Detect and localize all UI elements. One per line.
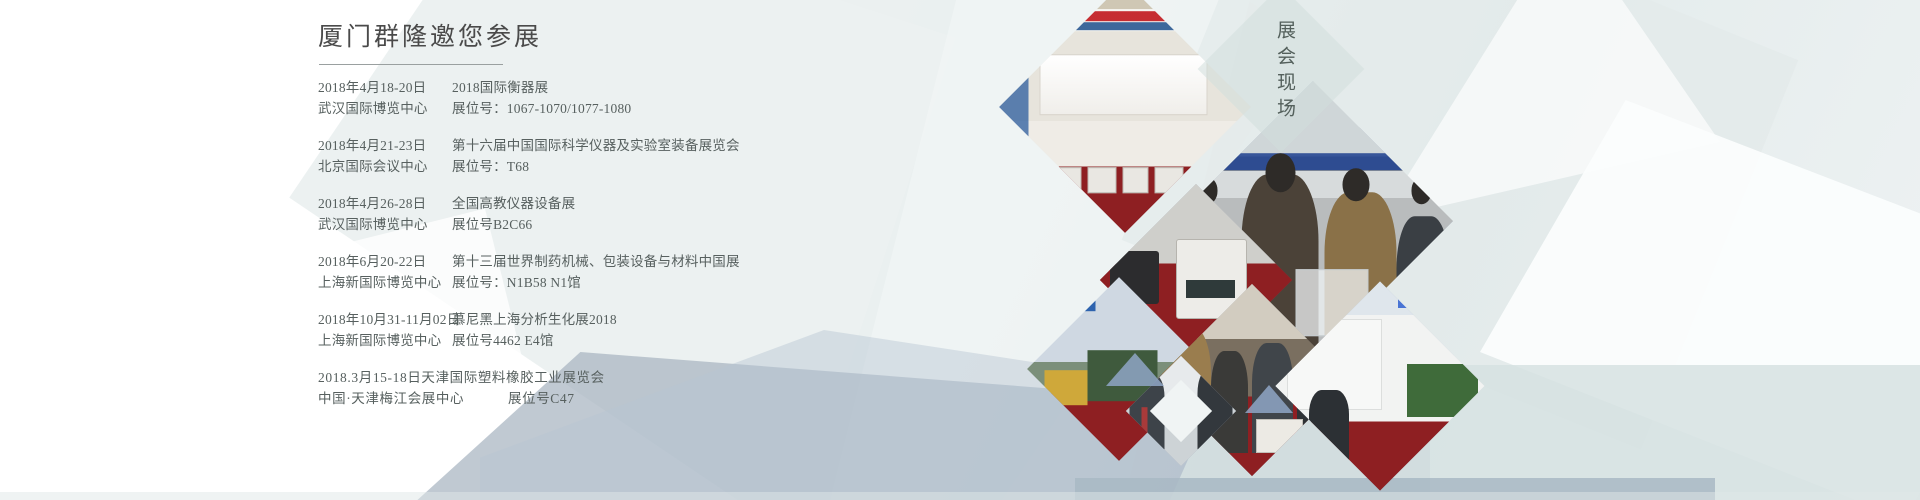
triangle-accent-icon: [1245, 385, 1293, 413]
bottom-edge-strip: [0, 492, 1920, 500]
side-label-text: 展会现场: [1272, 20, 1298, 124]
event-row-bottom: 武汉国际博览中心 展位号B2C66: [318, 214, 958, 235]
machinery-exhibit: [1045, 369, 1088, 404]
event-booth: 展位号：T68: [452, 156, 529, 177]
event-booth: 展位号：1067-1070/1077-1080: [452, 98, 631, 119]
event-row-top: 2018年4月21-23日 第十六届中国国际科学仪器及实验室装备展览会: [318, 135, 958, 156]
exhibition-banner: 厦门群隆邀您参展 2018年4月18-20日 2018国际衡器展 武汉国际博览中…: [0, 0, 1920, 500]
event-row-top: 2018年6月20-22日 第十三届世界制药机械、包装设备与材料中国展: [318, 251, 958, 272]
event-name: 第十六届中国国际科学仪器及实验室装备展览会: [452, 135, 740, 156]
event-date: 2018年4月18-20日: [318, 77, 452, 98]
event-row-top: 2018.3月15-18日天津国际塑料橡胶工业展览会: [318, 367, 958, 388]
visitors-backdrop-banner: [1182, 153, 1443, 169]
event-row-top: 2018年4月18-20日 2018国际衡器展: [318, 77, 958, 98]
event-venue: 上海新国际博览中心: [318, 272, 452, 293]
event-date: 2018年4月26-28日: [318, 193, 452, 214]
event-date: 2018.3月15-18日天津国际塑料橡胶工业展览会: [318, 367, 605, 388]
event-row-bottom: 北京国际会议中心 展位号：T68: [318, 156, 958, 177]
event-list-panel: 厦门群隆邀您参展 2018年4月18-20日 2018国际衡器展 武汉国际博览中…: [318, 22, 958, 425]
event-date: 2018年6月20-22日: [318, 251, 452, 272]
booth-product-board: [1040, 54, 1208, 115]
event-name: 全国高教仪器设备展: [452, 193, 575, 214]
event-item: 2018年4月18-20日 2018国际衡器展 武汉国际博览中心 展位号：106…: [318, 77, 958, 119]
event-row-bottom: 上海新国际博览中心 展位号4462 E4馆: [318, 330, 958, 351]
hall-signage: [1029, 295, 1095, 311]
event-booth: 展位号B2C66: [452, 214, 532, 235]
stand-staff-figure: [1309, 390, 1349, 465]
event-item: 2018年10月31-11月02日 慕尼黑上海分析生化展2018 上海新国际博览…: [318, 309, 958, 351]
event-date: 2018年4月21-23日: [318, 135, 452, 156]
visitor-head: [1343, 168, 1370, 201]
booth-banner-red-text: [1037, 11, 1213, 21]
event-venue: 中国·天津梅江会展中心: [318, 388, 508, 409]
booth-device: [1122, 166, 1148, 192]
stand-machine: [1407, 364, 1478, 417]
stand-logo: [1398, 293, 1460, 309]
event-name: 2018国际衡器展: [452, 77, 548, 98]
event-item: 2018年4月21-23日 第十六届中国国际科学仪器及实验室装备展览会 北京国际…: [318, 135, 958, 177]
event-item: 2018年4月26-28日 全国高教仪器设备展 武汉国际博览中心 展位号B2C6…: [318, 193, 958, 235]
event-name: 第十三届世界制药机械、包装设备与材料中国展: [452, 251, 740, 272]
visitor-head: [1411, 176, 1432, 203]
event-list: 2018年4月18-20日 2018国际衡器展 武汉国际博览中心 展位号：106…: [318, 77, 958, 409]
booth-device: [1154, 166, 1183, 192]
event-item: 2018年6月20-22日 第十三届世界制药机械、包装设备与材料中国展 上海新国…: [318, 251, 958, 293]
event-venue: 北京国际会议中心: [318, 156, 452, 177]
event-booth: 展位号：N1B58 N1馆: [452, 272, 581, 293]
event-booth: 展位号4462 E4馆: [452, 330, 554, 351]
event-booth: 展位号C47: [508, 388, 575, 409]
booth-device: [1088, 166, 1117, 192]
event-row-bottom: 中国·天津梅江会展中心 展位号C47: [318, 388, 958, 409]
event-item: 2018.3月15-18日天津国际塑料橡胶工业展览会 中国·天津梅江会展中心 展…: [318, 367, 958, 409]
event-date: 2018年10月31-11月02日: [318, 309, 452, 330]
booth-banner-company-text: [1058, 22, 1181, 29]
event-row-top: 2018年4月26-28日 全国高教仪器设备展: [318, 193, 958, 214]
event-name: 慕尼黑上海分析生化展2018: [452, 309, 617, 330]
page-title: 厦门群隆邀您参展: [318, 22, 958, 55]
visitor-head: [1265, 153, 1295, 192]
event-row-top: 2018年10月31-11月02日 慕尼黑上海分析生化展2018: [318, 309, 958, 330]
booth-device: [1050, 166, 1081, 192]
demo-device: [1256, 419, 1303, 454]
event-venue: 上海新国际博览中心: [318, 330, 452, 351]
triangle-accent-icon: [1106, 353, 1164, 386]
analyser-screen: [1186, 280, 1235, 298]
title-underline: [319, 64, 503, 65]
event-venue: 武汉国际博览中心: [318, 214, 452, 235]
event-venue: 武汉国际博览中心: [318, 98, 452, 119]
event-row-bottom: 上海新国际博览中心 展位号：N1B58 N1馆: [318, 272, 958, 293]
event-row-bottom: 武汉国际博览中心 展位号：1067-1070/1077-1080: [318, 98, 958, 119]
necktie: [1141, 406, 1147, 432]
